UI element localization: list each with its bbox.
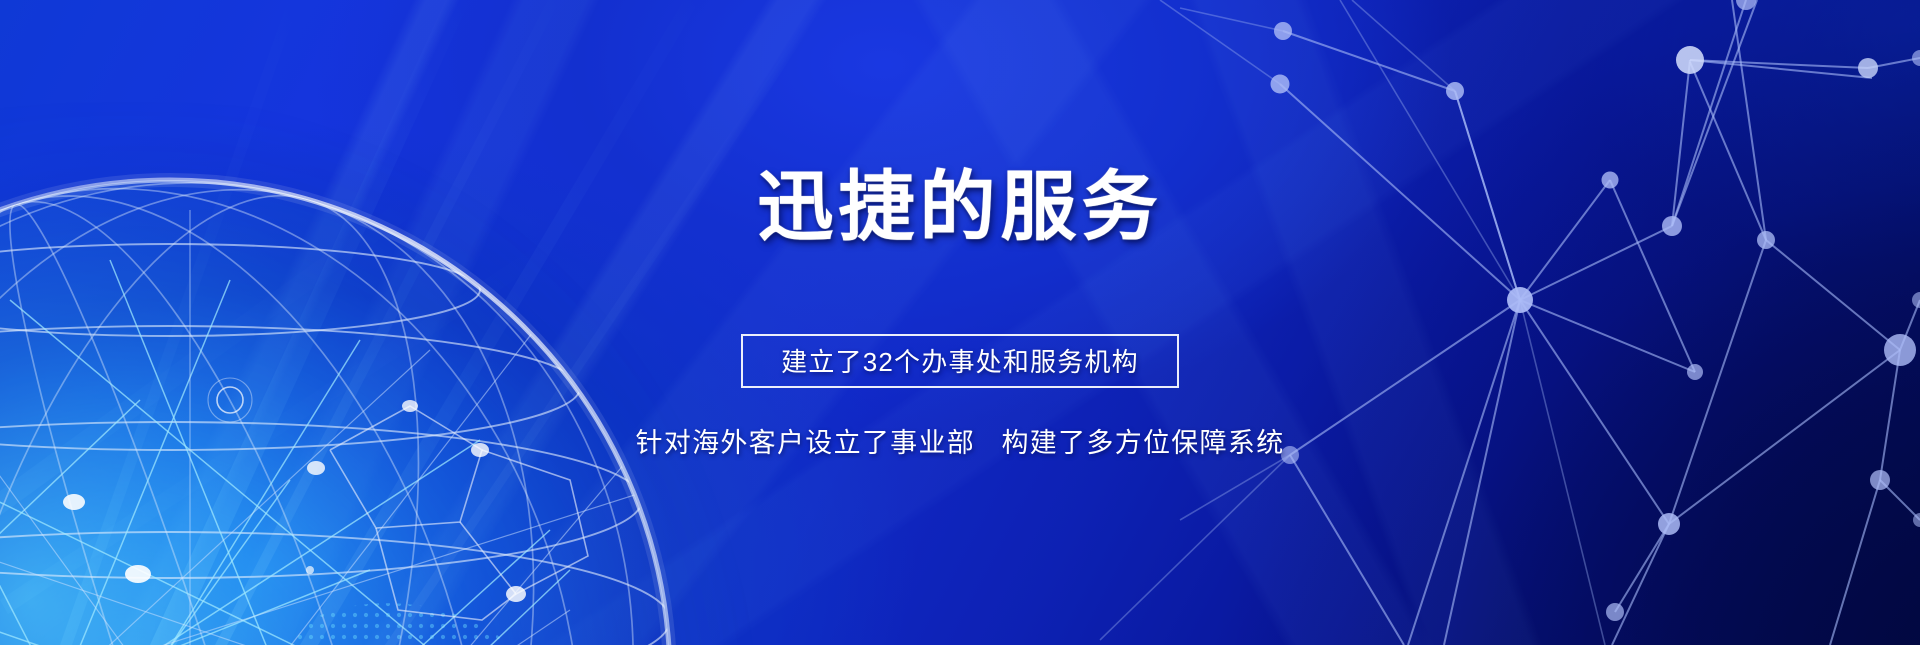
hero-banner: 迅捷的服务 建立了32个办事处和服务机构 针对海外客户设立了事业部 构建了多方位… xyxy=(0,0,1920,645)
highlight-box-label: 建立了32个办事处和服务机构 xyxy=(781,342,1139,379)
page-title: 迅捷的服务 xyxy=(758,170,1163,246)
highlight-box: 建立了32个办事处和服务机构 xyxy=(741,334,1179,388)
tagline: 针对海外客户设立了事业部 构建了多方位保障系统 xyxy=(635,421,1284,460)
banner-content: 迅捷的服务 建立了32个办事处和服务机构 针对海外客户设立了事业部 构建了多方位… xyxy=(0,0,1920,645)
